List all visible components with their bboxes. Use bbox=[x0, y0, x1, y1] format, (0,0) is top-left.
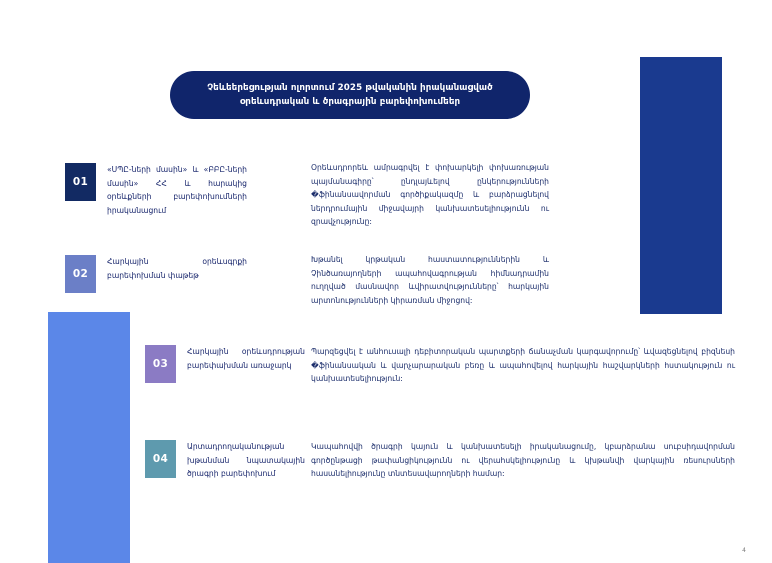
item-label: Հարկային օրեևսգրքի բարեփոխման փաթեթ bbox=[107, 255, 247, 282]
slide-title-line-1: Չեևեերեցության ոլորտում 2025 թվականին իր… bbox=[207, 83, 493, 93]
item-description: Օրեևսդրորեև ամրագրվել է փոխարկելի փոխառո… bbox=[311, 161, 549, 229]
slide-title-banner: Չեևեերեցության ոլորտում 2025 թվականին իր… bbox=[170, 71, 530, 119]
list-item: 04 Արտադրողականության խթանման նպատակային… bbox=[145, 440, 305, 481]
list-item: 01 «ՍՊԸ-ների մասին» և «ԲԲԸ-ների մասին» Հ… bbox=[65, 163, 247, 217]
item-number-badge: 04 bbox=[145, 440, 176, 478]
item-label: «ՍՊԸ-ների մասին» և «ԲԲԸ-ների մասին» ՀՀ և… bbox=[107, 163, 247, 217]
item-description: Կապահովվի ծրագրի կայուն և կանխատեսելի իր… bbox=[311, 440, 735, 481]
list-item: 02 Հարկային օրեևսգրքի բարեփոխման փաթեթ bbox=[65, 255, 247, 293]
item-description: Խթանել կրթական հաստատություններին և Չինծ… bbox=[311, 253, 549, 307]
page-number: 4 bbox=[742, 547, 746, 554]
slide-canvas: Չեևեերեցության ոլորտում 2025 թվականին իր… bbox=[0, 0, 772, 563]
item-number-badge: 02 bbox=[65, 255, 96, 293]
slide-title: Չեևեերեցության ոլորտում 2025 թվականին իր… bbox=[207, 81, 493, 109]
item-label: Արտադրողականության խթանման նպատակային ծր… bbox=[187, 440, 305, 481]
item-number-badge: 03 bbox=[145, 345, 176, 383]
item-description: Պարզեցվել է անհուսալի դեբիտորական պարտքե… bbox=[311, 345, 735, 386]
list-item: 03 Հարկային օրեևսդրության բարեփախման առա… bbox=[145, 345, 305, 383]
item-number-badge: 01 bbox=[65, 163, 96, 201]
slide-title-line-2: օրեևսդրական և ծրագրային բարեփոխումեեր bbox=[240, 97, 460, 107]
decorative-bar-right bbox=[640, 57, 722, 314]
item-label: Հարկային օրեևսդրության բարեփախման առաջար… bbox=[187, 345, 305, 372]
decorative-bar-left bbox=[48, 312, 130, 563]
